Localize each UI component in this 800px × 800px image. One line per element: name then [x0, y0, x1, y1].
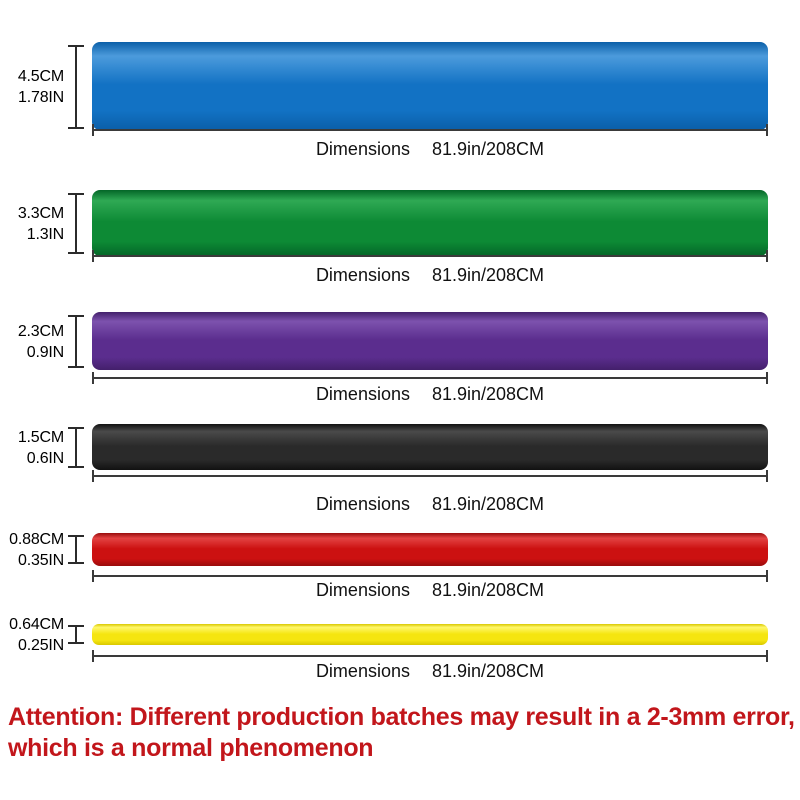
- caliper-cap-bottom: [68, 562, 84, 564]
- thickness-caliper-green: [68, 193, 84, 254]
- length-rule: [92, 377, 768, 379]
- thickness-caliper-yellow: [68, 625, 84, 644]
- length-caption-label: Dimensions: [316, 384, 410, 404]
- thickness-cm-black: 1.5CM: [0, 428, 64, 447]
- caliper-stem: [75, 427, 77, 468]
- length-caption-value: 81.9in/208CM: [432, 265, 544, 285]
- length-caption-black: Dimensions81.9in/208CM: [92, 493, 768, 515]
- length-caption-blue: Dimensions81.9in/208CM: [92, 138, 768, 160]
- attention-notice-line-1: Attention: Different production batches …: [8, 702, 796, 733]
- length-caption-label: Dimensions: [316, 661, 410, 681]
- length-rule: [92, 575, 768, 577]
- length-dimension-line-blue: [92, 124, 768, 136]
- thickness-caliper-black: [68, 427, 84, 468]
- length-caption-value: 81.9in/208CM: [432, 494, 544, 514]
- thickness-in-red: 0.35IN: [0, 551, 64, 570]
- length-caption-label: Dimensions: [316, 580, 410, 600]
- thickness-caliper-purple: [68, 315, 84, 368]
- thickness-cm-red: 0.88CM: [0, 530, 64, 549]
- caliper-stem: [75, 315, 77, 368]
- caliper-cap-bottom: [68, 252, 84, 254]
- length-caption-yellow: Dimensions81.9in/208CM: [92, 660, 768, 682]
- thickness-cm-purple: 2.3CM: [0, 322, 64, 341]
- caliper-cap-bottom: [68, 366, 84, 368]
- length-tick-right: [766, 250, 768, 262]
- length-caption-label: Dimensions: [316, 494, 410, 514]
- length-tick-right: [766, 124, 768, 136]
- length-caption-purple: Dimensions81.9in/208CM: [92, 383, 768, 405]
- caliper-stem: [75, 535, 77, 564]
- thickness-in-green: 1.3IN: [0, 225, 64, 244]
- caliper-stem: [75, 45, 77, 129]
- thickness-in-yellow: 0.25IN: [0, 636, 64, 655]
- length-caption-green: Dimensions81.9in/208CM: [92, 264, 768, 286]
- length-dimension-line-green: [92, 250, 768, 262]
- resistance-band-black: [92, 424, 768, 470]
- resistance-band-red: [92, 533, 768, 566]
- caliper-cap-bottom: [68, 642, 84, 644]
- length-caption-label: Dimensions: [316, 139, 410, 159]
- length-rule: [92, 129, 768, 131]
- thickness-in-blue: 1.78IN: [0, 88, 64, 107]
- length-rule: [92, 475, 768, 477]
- length-rule: [92, 655, 768, 657]
- length-caption-value: 81.9in/208CM: [432, 139, 544, 159]
- length-caption-value: 81.9in/208CM: [432, 580, 544, 600]
- resistance-band-green: [92, 190, 768, 256]
- attention-notice-line-2: which is a normal phenomenon: [8, 733, 796, 764]
- length-tick-right: [766, 470, 768, 482]
- thickness-in-black: 0.6IN: [0, 449, 64, 468]
- thickness-caliper-red: [68, 535, 84, 564]
- resistance-band-blue: [92, 42, 768, 130]
- resistance-band-purple: [92, 312, 768, 370]
- length-dimension-line-black: [92, 470, 768, 482]
- length-caption-label: Dimensions: [316, 265, 410, 285]
- thickness-in-purple: 0.9IN: [0, 343, 64, 362]
- caliper-cap-bottom: [68, 466, 84, 468]
- caliper-stem: [75, 193, 77, 254]
- length-caption-value: 81.9in/208CM: [432, 661, 544, 681]
- length-caption-value: 81.9in/208CM: [432, 384, 544, 404]
- thickness-caliper-blue: [68, 45, 84, 129]
- thickness-cm-green: 3.3CM: [0, 204, 64, 223]
- attention-notice: Attention: Different production batches …: [8, 702, 796, 764]
- caliper-cap-bottom: [68, 127, 84, 129]
- thickness-cm-yellow: 0.64CM: [0, 615, 64, 634]
- size-chart-canvas: 4.5CM1.78INDimensions81.9in/208CM3.3CM1.…: [0, 0, 800, 800]
- length-caption-red: Dimensions81.9in/208CM: [92, 579, 768, 601]
- length-rule: [92, 255, 768, 257]
- thickness-cm-blue: 4.5CM: [0, 67, 64, 86]
- resistance-band-yellow: [92, 624, 768, 645]
